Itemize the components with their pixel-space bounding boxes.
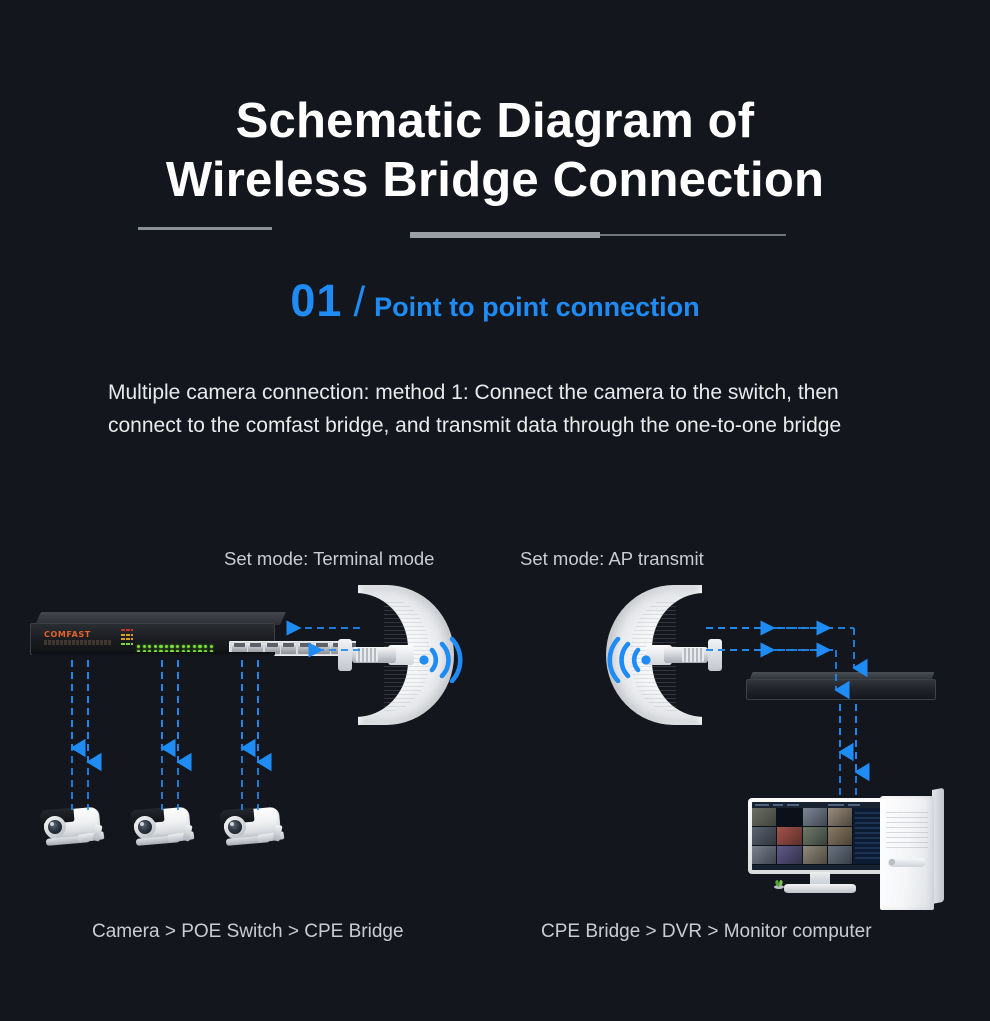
tower-vents	[886, 808, 928, 848]
comfast-logo: COMFAST	[44, 630, 106, 639]
poster-root: Schematic Diagram of Wireless Bridge Con…	[0, 0, 990, 1021]
mode-label-left: Set mode: Terminal mode	[224, 548, 434, 570]
tower-front-panel	[880, 796, 934, 910]
cpe-mount-arm	[664, 647, 708, 663]
desk-plant	[772, 876, 786, 888]
divider-thin-segment	[600, 234, 786, 236]
cpe-pole-mount	[708, 639, 722, 671]
switch-led-row-top	[137, 645, 223, 649]
divider-thick-segment	[410, 232, 600, 238]
tower-power-button[interactable]	[889, 859, 895, 865]
wifi-signal-icon-right	[598, 637, 652, 683]
cctv-status-bar	[752, 865, 888, 870]
section-description: Multiple camera connection: method 1: Co…	[108, 376, 898, 442]
ip-camera	[212, 803, 290, 859]
camera-lens-glint	[140, 822, 144, 826]
wifi-signal-icon-left	[418, 637, 472, 683]
dvr-recorder	[746, 672, 936, 702]
link-dvr-to-monitor	[840, 704, 856, 800]
cpe-mount-arm	[352, 647, 396, 663]
dvr-front-panel	[746, 679, 936, 700]
link-camera1-to-switch	[72, 660, 88, 810]
mode-label-right: Set mode: AP transmit	[520, 548, 704, 570]
rj45-port	[314, 643, 329, 654]
header-divider	[410, 232, 786, 238]
ip-camera	[122, 803, 200, 859]
monitor-computer	[748, 798, 892, 897]
switch-front-panel: COMFAST	[30, 623, 275, 655]
camera-lens-glint	[230, 822, 234, 826]
cctv-channel-grid	[752, 808, 852, 864]
caption-left: Camera > POE Switch > CPE Bridge	[92, 921, 404, 943]
section-heading: 01 / Point to point connection	[0, 278, 990, 330]
monitor-stand-base	[784, 884, 856, 893]
camera-lens-glint	[50, 822, 54, 826]
rj45-port	[298, 643, 313, 654]
page-title-line-1: Schematic Diagram of	[0, 92, 990, 151]
switch-base-shadow	[32, 652, 275, 656]
cpe-pole-mount	[338, 639, 352, 671]
title-underline-accent	[138, 227, 272, 230]
link-camera2-to-switch	[162, 660, 178, 810]
title-block: Schematic Diagram of Wireless Bridge Con…	[0, 92, 990, 210]
section-number: 01	[290, 278, 342, 323]
monitor-screen	[752, 802, 888, 870]
section-label: Point to point connection	[374, 285, 699, 330]
switch-status-led-column	[121, 629, 134, 649]
page-title-line-2: Wireless Bridge Connection	[0, 151, 990, 210]
rj45-port	[281, 643, 296, 654]
poe-switch: COMFAST	[30, 612, 283, 659]
switch-model-text	[44, 640, 112, 645]
section-separator: /	[353, 279, 365, 324]
caption-right: CPE Bridge > DVR > Monitor computer	[541, 921, 872, 943]
computer-tower	[880, 790, 944, 910]
link-camera3-to-switch	[242, 660, 258, 810]
ip-camera	[32, 803, 110, 859]
